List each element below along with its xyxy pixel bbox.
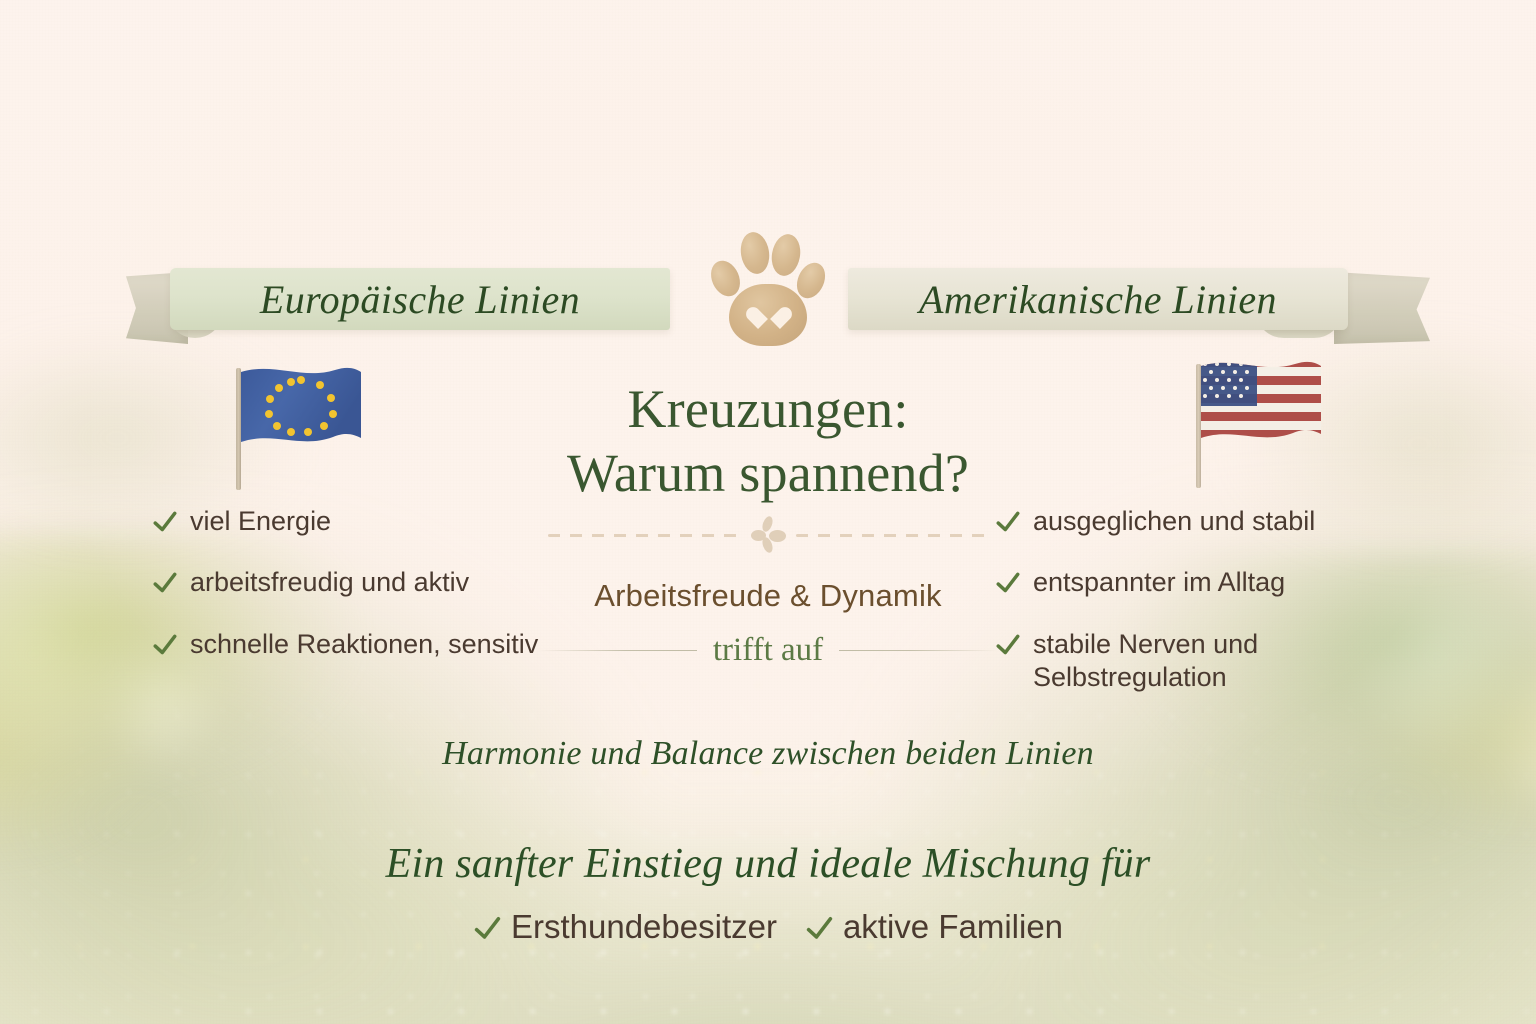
list-item: Ersthundebesitzer — [473, 908, 777, 946]
infographic-canvas: Europäische Linien Amerikanische Linien — [0, 0, 1536, 1024]
list-item-label: stabile Nerven und Selbstregulation — [1033, 628, 1415, 695]
list-item-label: arbeitsfreudig und aktiv — [190, 566, 469, 599]
petal-right — [769, 530, 786, 542]
checkmark-icon — [152, 509, 178, 535]
divider-dash-right — [796, 534, 988, 537]
paw-toe-2 — [738, 230, 772, 276]
paw-print-heart-icon — [710, 218, 826, 346]
checkmark-icon — [995, 632, 1021, 658]
list-item: entspannter im Alltag — [995, 566, 1415, 599]
center-meets-row: trifft auf — [538, 632, 998, 669]
list-item: ausgeglichen und stabil — [995, 505, 1415, 538]
page-title-line-1: Kreuzungen: — [468, 378, 1068, 442]
four-petal-flower-icon — [746, 523, 790, 547]
checkmark-icon — [152, 570, 178, 596]
ribbon-label-european: Europäische Linien — [170, 268, 670, 330]
list-item-label: entspannter im Alltag — [1033, 566, 1285, 599]
ribbon-tail-right — [1334, 272, 1430, 344]
meets-rule-left — [538, 650, 697, 651]
center-top-label: Arbeitsfreude & Dynamik — [538, 578, 998, 614]
american-traits-list: ausgeglichen und stabil entspannter im A… — [995, 505, 1415, 723]
audience-label: Ersthundebesitzer — [511, 908, 777, 946]
audience-row: Ersthundebesitzer aktive Familien — [0, 908, 1536, 946]
center-meets-label: trifft auf — [713, 632, 823, 669]
checkmark-icon — [473, 914, 502, 943]
checkmark-icon — [995, 509, 1021, 535]
eu-flag-icon — [225, 358, 370, 493]
page-title-line-2: Warum spannend? — [468, 442, 1068, 506]
checkmark-icon — [152, 632, 178, 658]
list-item: schnelle Reaktionen, sensitiv — [152, 628, 542, 661]
harmony-statement: Harmonie und Balance zwischen beiden Lin… — [0, 735, 1536, 773]
list-item-label: schnelle Reaktionen, sensitiv — [190, 628, 538, 661]
checkmark-icon — [805, 914, 834, 943]
divider-dash-left — [548, 534, 740, 537]
list-item: aktive Familien — [805, 908, 1063, 946]
list-item: stabile Nerven und Selbstregulation — [995, 628, 1415, 695]
page-title: Kreuzungen: Warum spannend? — [468, 378, 1068, 505]
list-item-label: ausgeglichen und stabil — [1033, 505, 1315, 538]
us-flag-icon — [1185, 352, 1330, 492]
audience-label: aktive Familien — [843, 908, 1063, 946]
list-item: viel Energie — [152, 505, 542, 538]
center-connector-block: Arbeitsfreude & Dynamik trifft auf — [538, 578, 998, 669]
meets-rule-right — [839, 650, 998, 651]
list-item-label: viel Energie — [190, 505, 331, 538]
heart-cutout-icon — [756, 303, 782, 327]
checkmark-icon — [995, 570, 1021, 596]
decorative-divider — [548, 523, 988, 547]
list-item: arbeitsfreudig und aktiv — [152, 566, 542, 599]
closing-headline: Ein sanfter Einstieg und ideale Mischung… — [0, 840, 1536, 888]
european-traits-list: viel Energie arbeitsfreudig und aktiv sc… — [152, 505, 542, 689]
paw-toe-3 — [769, 232, 804, 278]
ribbon-label-american: Amerikanische Linien — [848, 268, 1348, 330]
